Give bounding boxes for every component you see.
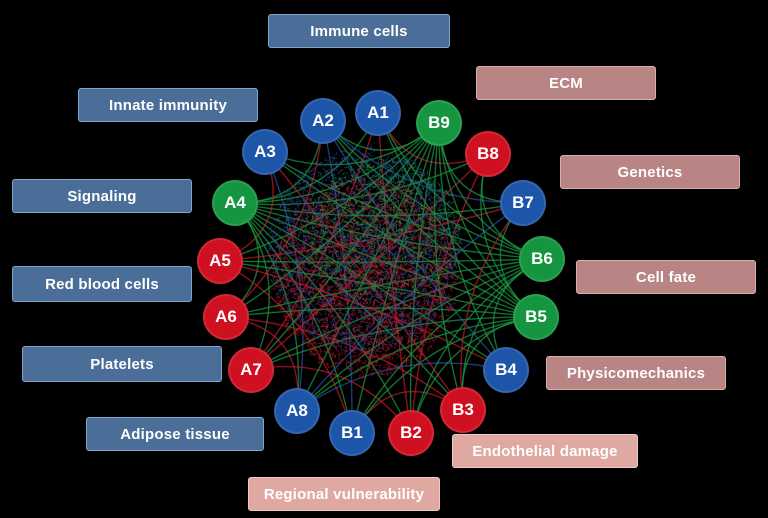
node-label: B1 (341, 423, 363, 443)
node-label: A2 (312, 111, 334, 131)
node-label: A6 (215, 307, 237, 327)
network-graph: A1A2A3A4A5A6A7A8B1B2B3B4B5B6B7B8B9 (168, 80, 588, 460)
node-label: B7 (512, 193, 534, 213)
node-label: A1 (367, 103, 389, 123)
label-text: Immune cells (310, 23, 407, 40)
graph-node-A2[interactable]: A2 (300, 98, 346, 144)
node-label: B9 (428, 113, 450, 133)
node-label: A7 (240, 360, 262, 380)
node-label: A4 (224, 193, 246, 213)
graph-node-B7[interactable]: B7 (500, 180, 546, 226)
node-label: B3 (452, 400, 474, 420)
label-text: Genetics (618, 164, 683, 181)
label-red-blood-cells: Red blood cells (12, 266, 192, 302)
graph-node-A4[interactable]: A4 (212, 180, 258, 226)
node-label: A8 (286, 401, 308, 421)
network-diagram-canvas: Immune cellsECMInnate immunityGeneticsSi… (0, 0, 768, 518)
graph-node-B1[interactable]: B1 (329, 410, 375, 456)
label-signaling: Signaling (12, 179, 192, 213)
label-text: Platelets (90, 356, 154, 373)
graph-node-B4[interactable]: B4 (483, 347, 529, 393)
graph-node-B6[interactable]: B6 (519, 236, 565, 282)
graph-node-B2[interactable]: B2 (388, 410, 434, 456)
label-text: Regional vulnerability (264, 486, 424, 503)
node-label: A5 (209, 251, 231, 271)
node-label: B6 (531, 249, 553, 269)
node-label: A3 (254, 142, 276, 162)
label-immune-cells: Immune cells (268, 14, 450, 48)
graph-node-B3[interactable]: B3 (440, 387, 486, 433)
graph-node-A6[interactable]: A6 (203, 294, 249, 340)
label-text: Cell fate (636, 269, 696, 286)
graph-node-A8[interactable]: A8 (274, 388, 320, 434)
node-label: B4 (495, 360, 517, 380)
graph-node-A1[interactable]: A1 (355, 90, 401, 136)
node-label: B8 (477, 144, 499, 164)
label-text: Red blood cells (45, 276, 159, 293)
graph-node-A7[interactable]: A7 (228, 347, 274, 393)
node-label: B2 (400, 423, 422, 443)
node-label: B5 (525, 307, 547, 327)
label-regional-vulnerability: Regional vulnerability (248, 477, 440, 511)
graph-node-A3[interactable]: A3 (242, 129, 288, 175)
graph-node-B8[interactable]: B8 (465, 131, 511, 177)
label-text: Signaling (67, 188, 136, 205)
graph-node-A5[interactable]: A5 (197, 238, 243, 284)
label-cell-fate: Cell fate (576, 260, 756, 294)
graph-node-B9[interactable]: B9 (416, 100, 462, 146)
graph-node-B5[interactable]: B5 (513, 294, 559, 340)
